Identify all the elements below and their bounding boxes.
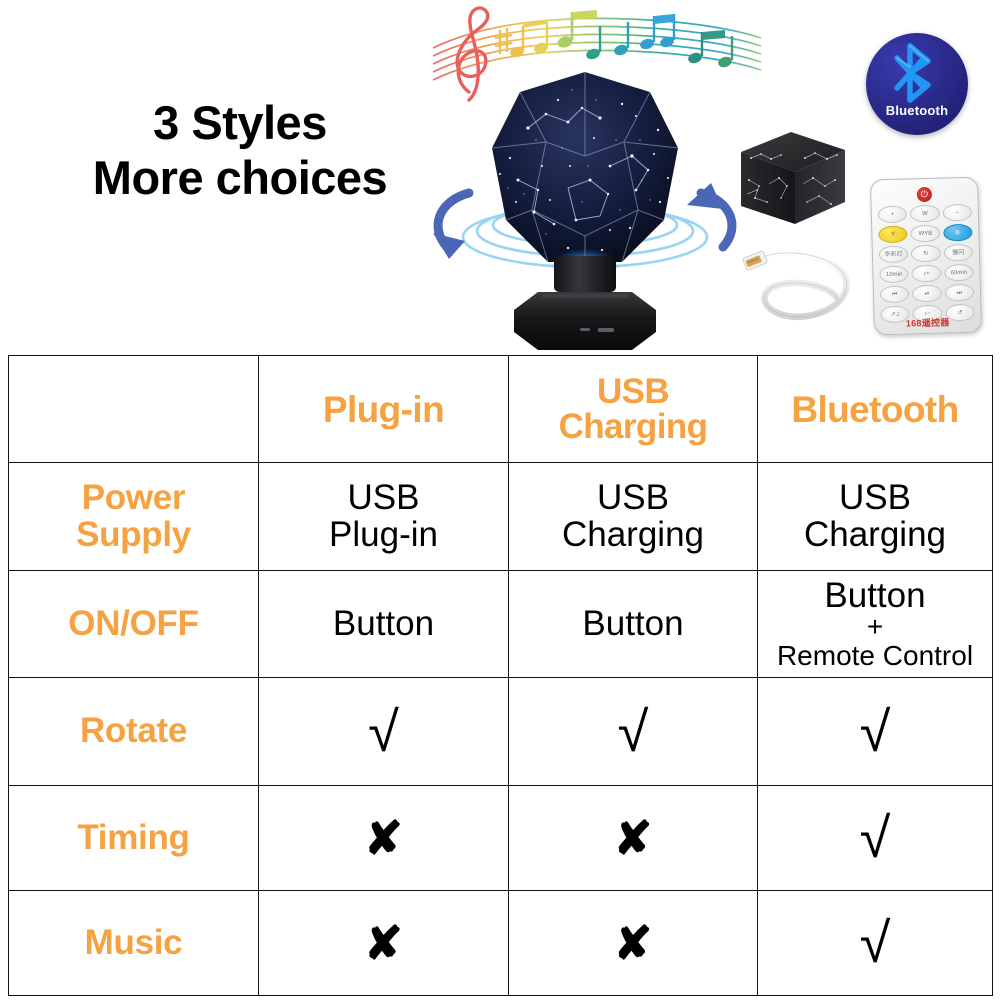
check-mark: √: [761, 915, 989, 971]
header-cell-usb-charging: USB Charging: [509, 356, 758, 463]
remote-button[interactable]: 10min: [879, 265, 909, 283]
row-label: ON/OFF: [12, 606, 255, 642]
star-projector-lamp: [450, 70, 720, 355]
hero-section: 3 Styles More choices: [0, 0, 1000, 355]
cross-mark: ✘: [262, 920, 505, 966]
row-label-music: Music: [9, 891, 259, 996]
cell-value: Button: [512, 606, 754, 643]
table-header-row: Plug-in USB Charging Bluetooth: [9, 356, 993, 463]
cell-line-1: USB: [761, 480, 989, 517]
remote-control: ⏻ + W − Y WYB B 华彩灯 ↻ 慢闪 10min ♪+ 60min …: [870, 177, 982, 336]
remote-button[interactable]: Y: [878, 225, 908, 243]
cell-rotate-plug-in: √: [259, 678, 509, 786]
remote-button[interactable]: 60min: [944, 264, 974, 282]
table-row-rotate: Rotate √ √ √: [9, 678, 993, 786]
cell-line-2: Charging: [512, 517, 754, 554]
row-label-rotate: Rotate: [9, 678, 259, 786]
usb-cable: [742, 240, 862, 330]
row-label: Rotate: [12, 713, 255, 749]
remote-button[interactable]: ♪+: [912, 265, 942, 283]
remote-button[interactable]: ⏯: [912, 285, 942, 303]
header-plug-in-label: Plug-in: [262, 391, 505, 428]
cell-power-plug-in: USB Plug-in: [259, 463, 509, 571]
table-row-music: Music ✘ ✘ √: [9, 891, 993, 996]
cell-rotate-bluetooth: √: [758, 678, 993, 786]
cell-music-usb: ✘: [509, 891, 758, 996]
table-row-on-off: ON/OFF Button Button Button + Remote Con…: [9, 571, 993, 678]
row-label-timing: Timing: [9, 786, 259, 891]
cross-mark: ✘: [512, 920, 754, 966]
remote-button[interactable]: ⏭: [944, 284, 974, 302]
check-mark: √: [262, 704, 505, 760]
cell-line-1: Button: [761, 578, 989, 615]
check-mark: √: [761, 810, 989, 866]
bluetooth-badge-label: Bluetooth: [866, 103, 968, 118]
cell-power-bluetooth: USB Charging: [758, 463, 993, 571]
remote-button[interactable]: B: [943, 224, 973, 242]
remote-button[interactable]: WYB: [911, 225, 941, 243]
page-title: 3 Styles More choices: [40, 95, 440, 206]
cell-onoff-bluetooth: Button + Remote Control: [758, 571, 993, 678]
bluetooth-badge: Bluetooth: [866, 33, 968, 135]
cell-power-usb: USB Charging: [509, 463, 758, 571]
product-comparison-page: 3 Styles More choices: [0, 0, 1000, 1000]
remote-button[interactable]: 慢闪: [943, 244, 973, 262]
cross-mark: ✘: [512, 815, 754, 861]
row-label-power-supply: Power Supply: [9, 463, 259, 571]
cell-timing-usb: ✘: [509, 786, 758, 891]
cell-rotate-usb: √: [509, 678, 758, 786]
table-row-power-supply: Power Supply USB Plug-in USB Charging US…: [9, 463, 993, 571]
header-usb-line-1: USB: [512, 374, 754, 409]
row-label-line-1: Power: [12, 480, 255, 516]
check-mark: √: [761, 704, 989, 760]
row-label: Timing: [12, 820, 255, 856]
cell-onoff-plug-in: Button: [259, 571, 509, 678]
cell-music-plug-in: ✘: [259, 891, 509, 996]
cell-line-3: Remote Control: [761, 641, 989, 670]
remote-button[interactable]: −: [942, 204, 972, 222]
cell-onoff-usb: Button: [509, 571, 758, 678]
headline-line-2: More choices: [40, 150, 440, 205]
bluetooth-icon: [894, 42, 940, 104]
header-cell-blank: [9, 356, 259, 463]
row-label-line-2: Supply: [12, 517, 255, 553]
headline-line-1: 3 Styles: [40, 95, 440, 150]
cell-music-bluetooth: √: [758, 891, 993, 996]
header-cell-plug-in: Plug-in: [259, 356, 509, 463]
cross-mark: ✘: [262, 815, 505, 861]
remote-button[interactable]: ⏮: [880, 285, 910, 303]
header-bluetooth-label: Bluetooth: [761, 391, 989, 428]
cell-line-1: USB: [512, 480, 754, 517]
cell-timing-bluetooth: √: [758, 786, 993, 891]
cell-timing-plug-in: ✘: [259, 786, 509, 891]
cell-line-2: Plug-in: [262, 517, 505, 554]
remote-button[interactable]: +: [878, 205, 908, 223]
check-mark: √: [512, 704, 754, 760]
remote-model-label: 168遥控器: [875, 315, 981, 331]
cell-line-2: +: [761, 614, 989, 641]
comparison-table: Plug-in USB Charging Bluetooth Power Sup…: [8, 355, 993, 996]
header-usb-line-2: Charging: [512, 409, 754, 444]
row-label-on-off: ON/OFF: [9, 571, 259, 678]
cell-line-1: USB: [262, 480, 505, 517]
constellation-gift-box: [735, 128, 850, 233]
remote-button-grid: + W − Y WYB B 华彩灯 ↻ 慢闪 10min ♪+ 60min ⏮ …: [878, 204, 975, 323]
row-label: Music: [12, 925, 255, 961]
cell-line-2: Charging: [761, 517, 989, 554]
table-row-timing: Timing ✘ ✘ √: [9, 786, 993, 891]
remote-button[interactable]: W: [910, 205, 940, 223]
remote-power-button[interactable]: ⏻: [917, 187, 932, 202]
remote-button[interactable]: ↻: [911, 245, 941, 263]
header-cell-bluetooth: Bluetooth: [758, 356, 993, 463]
cell-value: Button: [262, 606, 505, 643]
remote-button[interactable]: 华彩灯: [879, 245, 909, 263]
